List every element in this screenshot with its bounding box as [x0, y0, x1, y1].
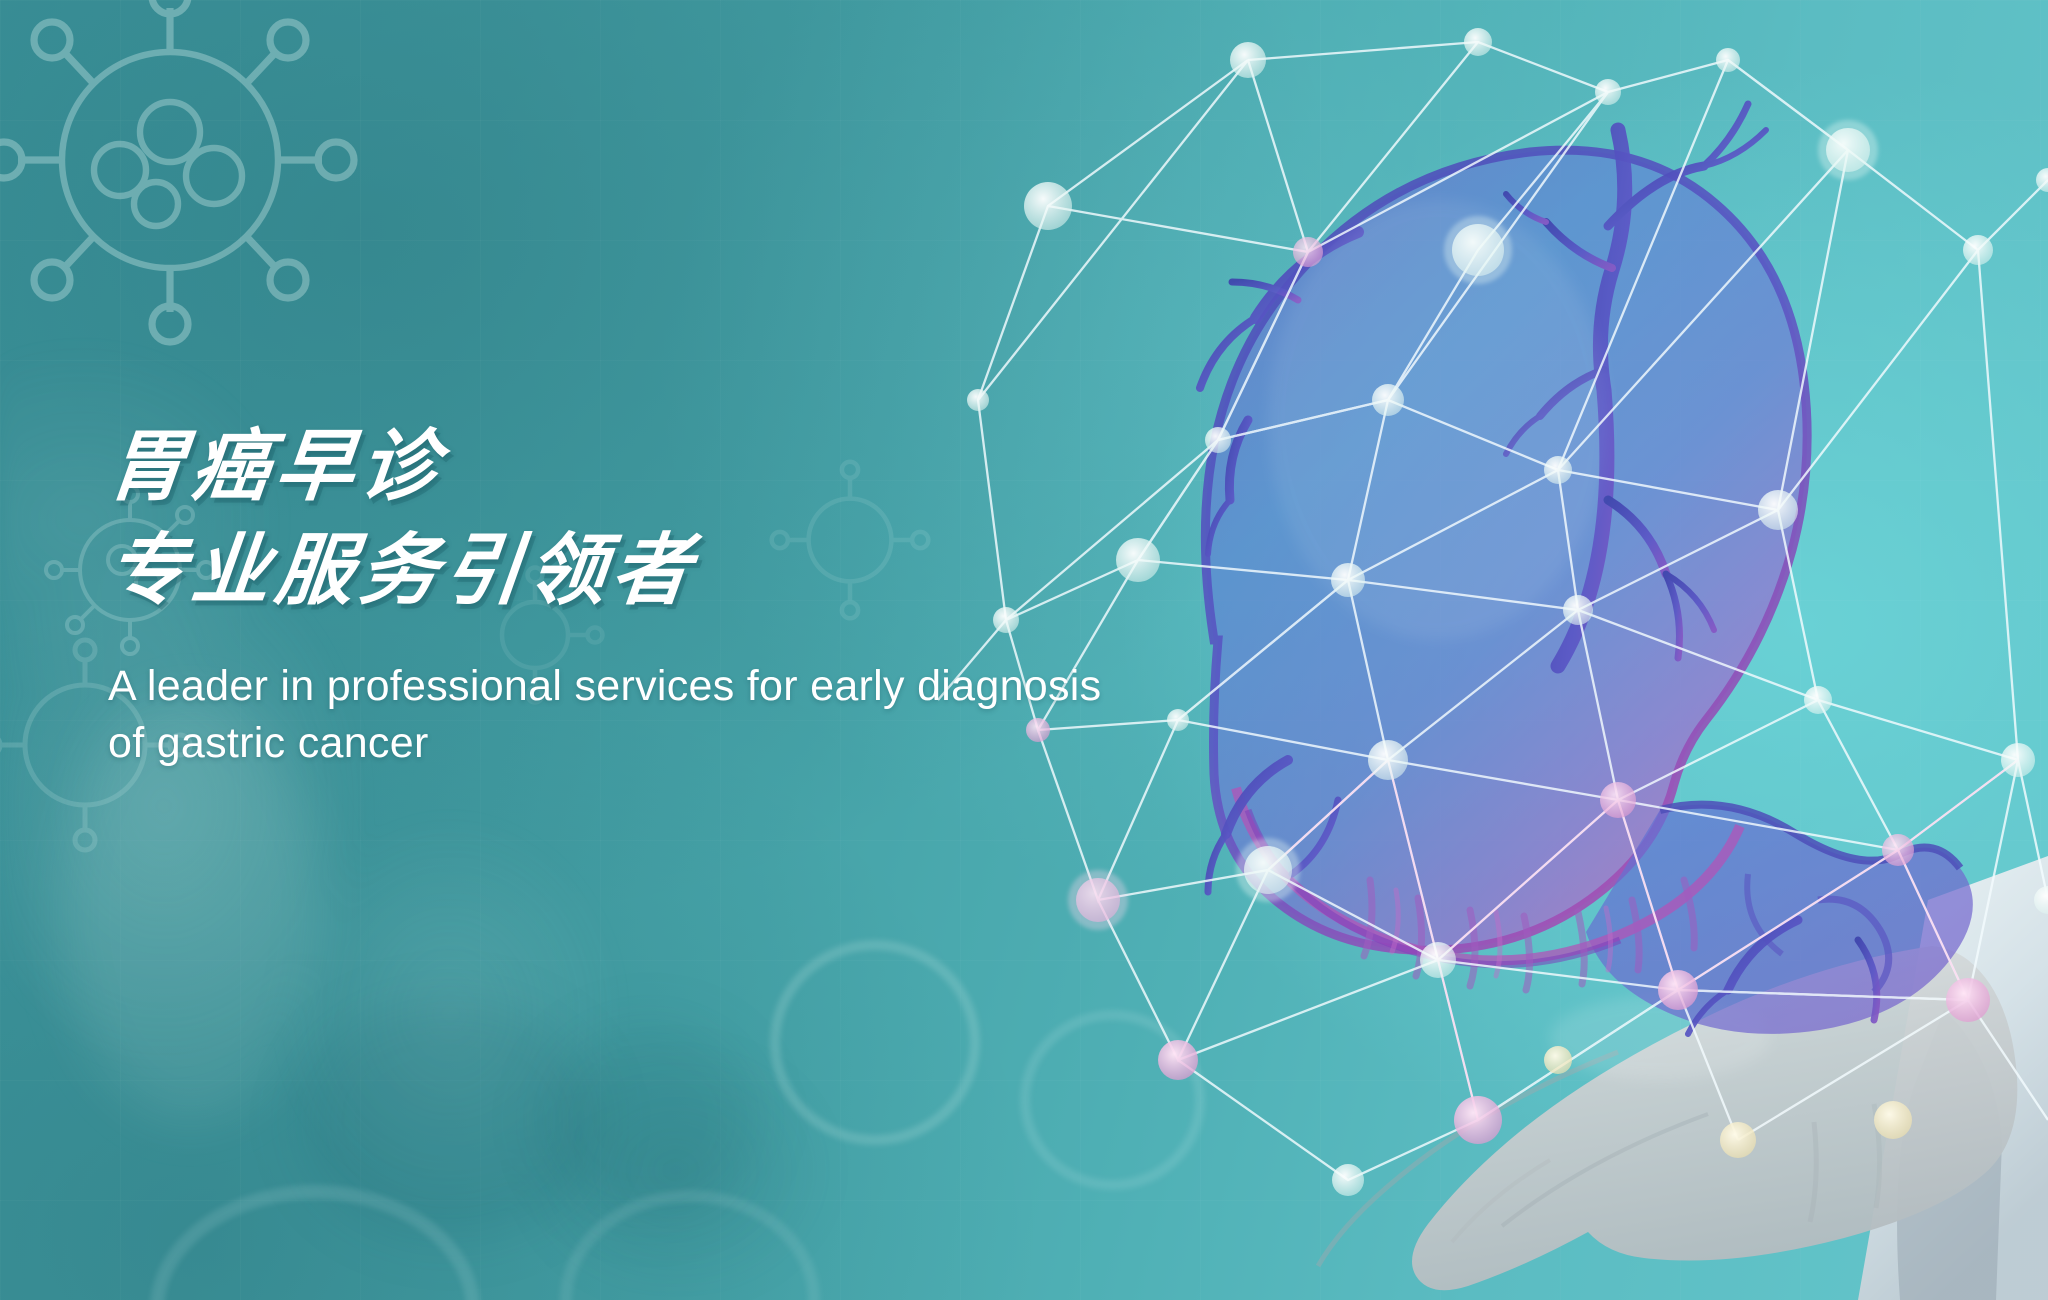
- subtitle-text: A leader in professional services for ea…: [108, 658, 1108, 772]
- headline-line-1: 胃癌早诊: [103, 420, 1113, 512]
- headline-block: 胃癌早诊 专业服务引领者 A leader in professional se…: [108, 420, 1108, 772]
- gastric-cancer-banner: 胃癌早诊 专业服务引领者 A leader in professional se…: [0, 0, 2048, 1300]
- coronavirus-icon: [0, 0, 370, 360]
- background-blob: [540, 1020, 760, 1220]
- headline-line-2: 专业服务引领者: [103, 524, 1113, 616]
